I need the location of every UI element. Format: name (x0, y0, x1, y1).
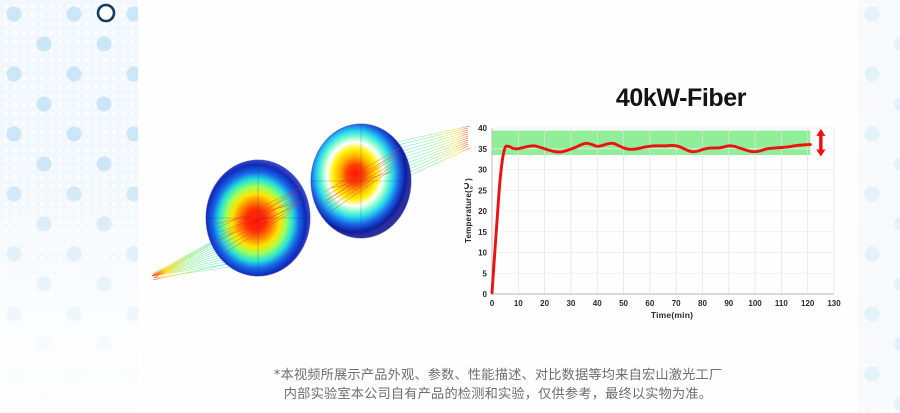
disclaimer-line-2: 内部实验室本公司自有产品的检测和实验，仅供参考，最终以实物为准。 (138, 385, 858, 404)
slide-canvas: 40kW-Fiber Temperature(℃) Time(min) 0510… (0, 0, 900, 413)
x-tick-labels: 0102030405060708090100110120130 (490, 299, 841, 308)
svg-text:0: 0 (490, 299, 495, 308)
svg-text:5: 5 (483, 269, 488, 278)
lens-thermal-map-b (311, 124, 411, 238)
pin-marker-icon (93, 2, 119, 370)
decorative-dot-pattern-right (858, 0, 900, 413)
disclaimer-text: *本视频所展示产品外观、参数、性能描述、对比数据等均来自宏山激光工厂 内部实验室… (138, 366, 858, 404)
svg-text:60: 60 (645, 299, 654, 308)
svg-text:100: 100 (748, 299, 762, 308)
svg-text:50: 50 (619, 299, 628, 308)
svg-text:110: 110 (775, 299, 788, 308)
svg-text:15: 15 (478, 228, 487, 237)
svg-text:10: 10 (478, 249, 487, 258)
svg-text:25: 25 (478, 186, 487, 195)
lens-thermal-map-a (206, 160, 310, 276)
svg-text:40: 40 (593, 299, 602, 308)
optical-ray-trace-figure (146, 108, 476, 308)
range-arrow-annotation (816, 129, 825, 157)
svg-text:30: 30 (566, 299, 575, 308)
chart-title: 40kW-Fiber (466, 78, 860, 111)
svg-text:20: 20 (478, 207, 487, 216)
svg-text:35: 35 (478, 145, 487, 154)
svg-text:20: 20 (540, 299, 549, 308)
svg-text:40: 40 (478, 124, 487, 133)
plot-area: Temperature(℃) Time(min) 051015202530354… (466, 122, 860, 332)
svg-text:70: 70 (672, 299, 681, 308)
svg-text:80: 80 (698, 299, 707, 308)
temperature-chart: 40kW-Fiber Temperature(℃) Time(min) 0510… (466, 78, 860, 333)
y-tick-labels: 0510152025303540 (478, 124, 487, 299)
disclaimer-line-1: *本视频所展示产品外观、参数、性能描述、对比数据等均来自宏山激光工厂 (138, 366, 858, 385)
chart-svg: 0510152025303540 01020304050607080901001… (466, 122, 860, 322)
svg-text:90: 90 (724, 299, 733, 308)
svg-text:30: 30 (478, 166, 487, 175)
svg-text:10: 10 (514, 299, 523, 308)
temperature-curve (492, 143, 810, 292)
svg-text:0: 0 (483, 290, 488, 299)
svg-text:130: 130 (827, 299, 841, 308)
svg-text:120: 120 (801, 299, 815, 308)
